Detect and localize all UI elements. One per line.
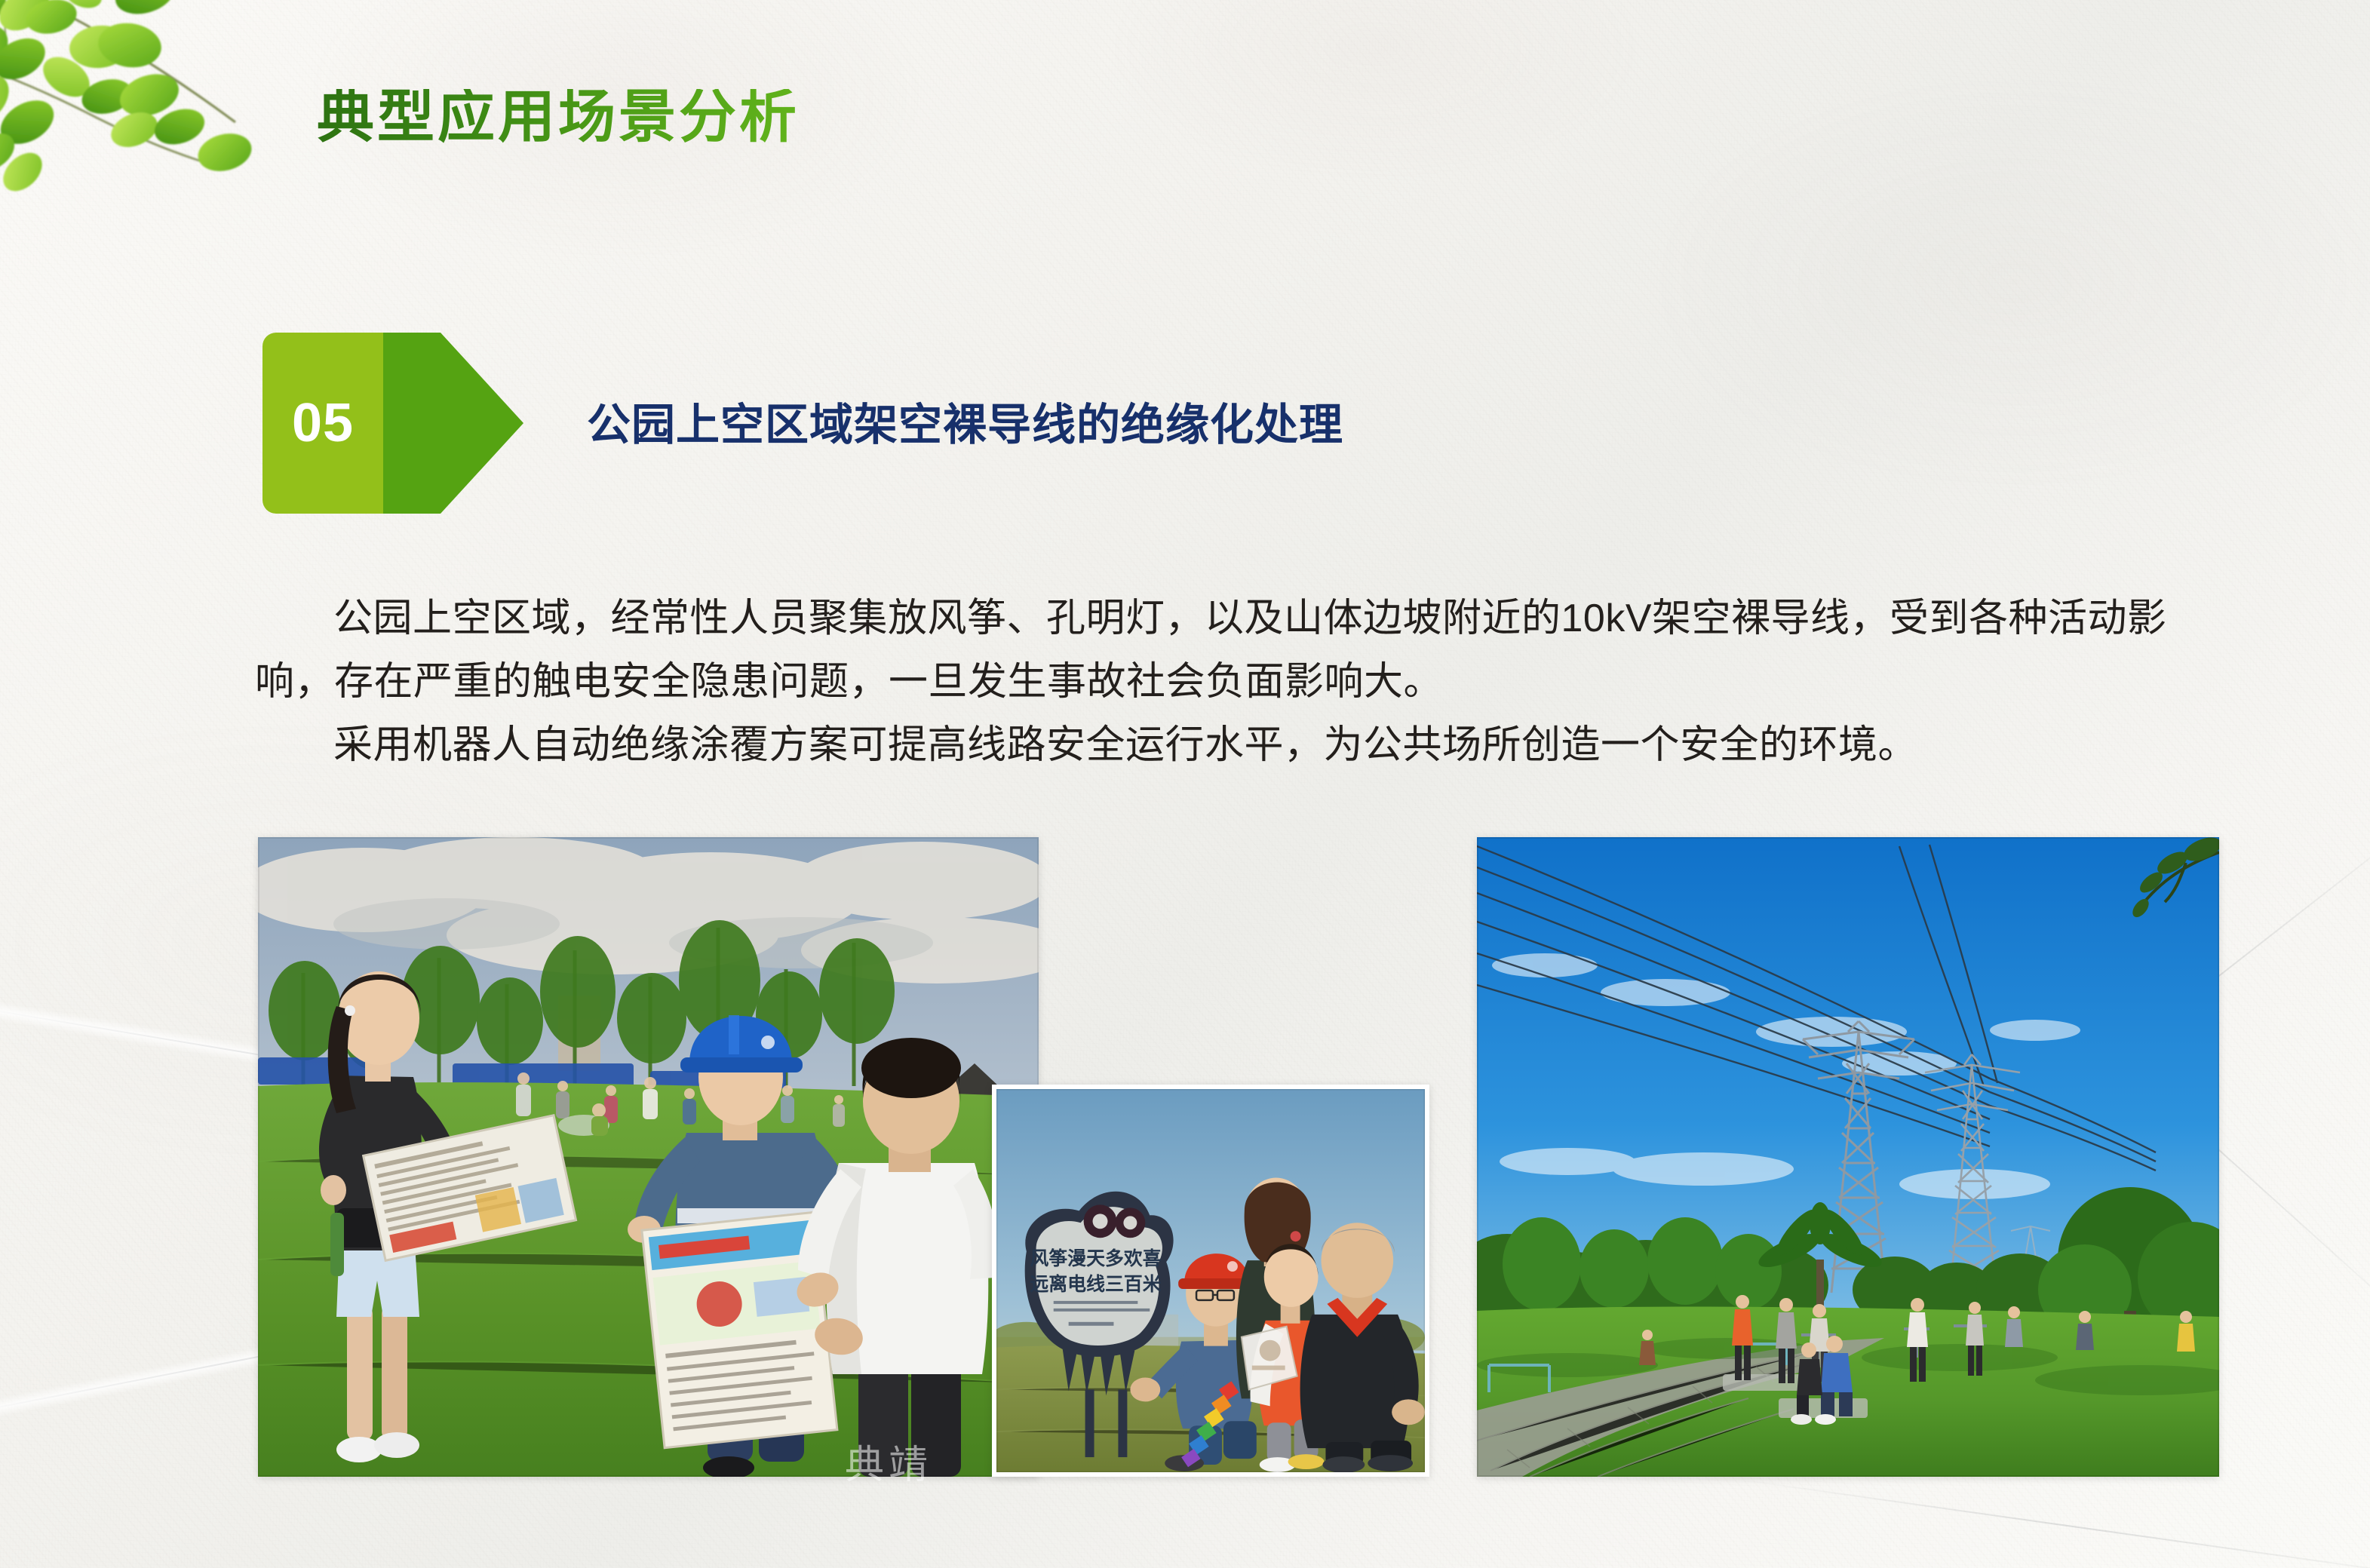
section-number-badge: 05: [262, 333, 523, 514]
body-text-block: 公园上空区域，经常性人员聚集放风筝、孔明灯，以及山体边坡附近的10kV架空裸导线…: [255, 587, 2201, 778]
kite-sign-line-2: 远离电线三百米: [1030, 1273, 1161, 1295]
section-subtitle: 公园上空区域架空裸导线的绝缘化处理: [587, 401, 1343, 450]
photo-kite-sign: 风筝漫天多欢喜 远离电线三百米: [992, 1085, 1429, 1477]
body-paragraph-2: 采用机器人自动绝缘涂覆方案可提高线路安全运行水平，为公共场所创造一个安全的环境。: [255, 713, 2201, 777]
page-title: 典型应用场景分析: [317, 89, 800, 146]
slide-canvas: 典型应用场景分析 05 公园上空区域架空裸导线的绝缘化处理 公园上空区域，经常性…: [0, 0, 2370, 1568]
section-number-label: 05: [262, 333, 383, 514]
body-paragraph-1: 公园上空区域，经常性人员聚集放风筝、孔明灯，以及山体边坡附近的10kV架空裸导线…: [255, 587, 2201, 713]
photo-transmission-towers: [1477, 837, 2219, 1477]
photo-park-leaflet: [258, 837, 1039, 1477]
kite-sign-line-1: 风筝漫天多欢喜: [1030, 1247, 1161, 1269]
